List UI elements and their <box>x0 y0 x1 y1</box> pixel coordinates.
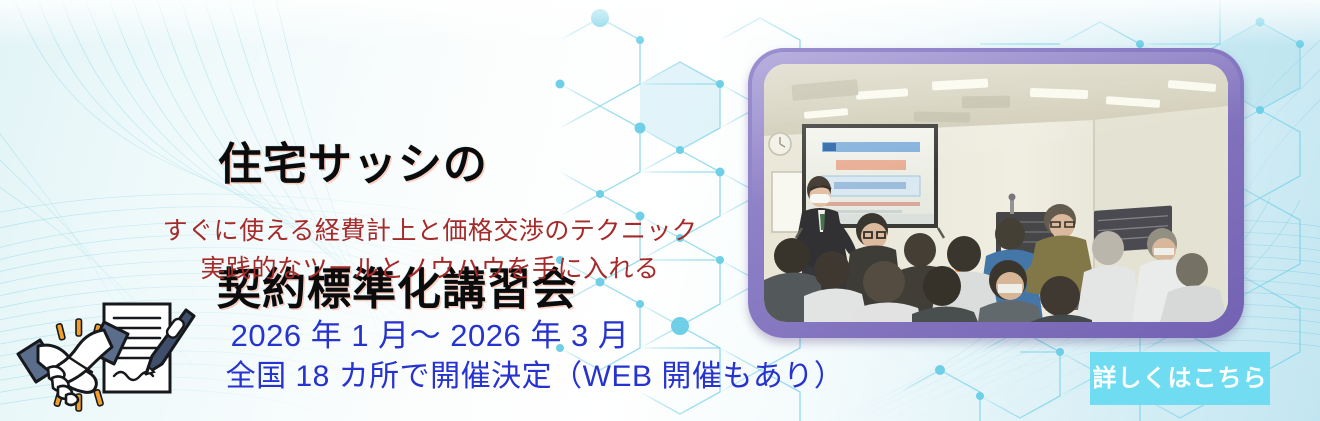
handshake-contract-pen-icon <box>8 296 204 414</box>
details-cta-button[interactable]: 詳しくはこちら <box>1090 352 1270 405</box>
seminar-promo-banner: 住宅サッシの 契約標準化講習会 すぐに使える経費計上と価格交渉のテクニック 実践… <box>0 0 1320 421</box>
photo-frame <box>748 48 1244 338</box>
top-fade-overlay <box>0 0 1320 46</box>
handshake-contract-icon <box>8 296 204 414</box>
title-line-1: 住宅サッシの <box>218 140 488 189</box>
seminar-photo-illustration <box>764 64 1228 322</box>
seminar-photo <box>764 64 1228 322</box>
cta-label: 詳しくはこちら <box>1093 367 1268 391</box>
subtitle-line-1: すぐに使える経費計上と価格交渉のテクニック <box>163 217 698 245</box>
subtitle: すぐに使える経費計上と価格交渉のテクニック 実践的なツールとノウハウを手に入れる <box>0 212 860 288</box>
subtitle-line-2: 実践的なツールとノウハウを手に入れる <box>0 250 860 288</box>
